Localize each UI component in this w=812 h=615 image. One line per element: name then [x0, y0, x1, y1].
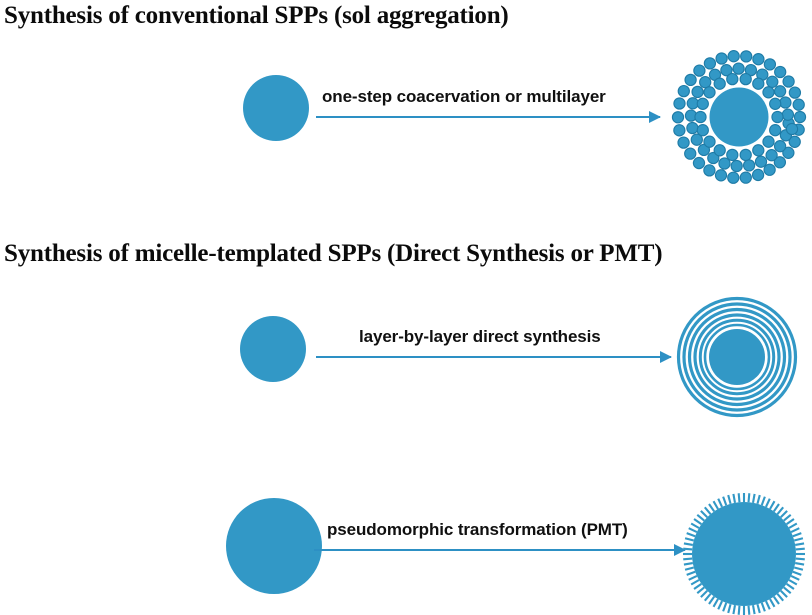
row-pmt: pseudomorphic transformation (PMT): [0, 490, 812, 611]
arrow-head-icon: [660, 351, 672, 363]
arrow-coacervation: [316, 110, 660, 124]
arrow-head-icon: [649, 111, 661, 123]
reactant-solid-core-particle-row2: [240, 316, 306, 382]
arrow-label-coacervation: one-step coacervation or multilayer: [322, 87, 606, 107]
arrow-pmt: [314, 543, 685, 557]
arrow-shaft: [314, 549, 685, 551]
arrow-label-pmt: pseudomorphic transformation (PMT): [327, 520, 628, 540]
section-heading-conventional: Synthesis of conventional SPPs (sol aggr…: [4, 2, 509, 30]
reactant-solid-core-particle-row1: [243, 75, 309, 141]
reactant-solid-core-particle-row3: [226, 498, 322, 594]
arrow-shaft: [316, 356, 671, 358]
particle-core: [692, 502, 796, 606]
synthesis-diagram: Synthesis of conventional SPPs (sol aggr…: [0, 0, 812, 611]
particle-core: [710, 88, 769, 147]
arrow-layer-by-layer: [316, 350, 671, 364]
product-radial-pore-particle: [683, 493, 805, 615]
arrow-label-layer-by-layer: layer-by-layer direct synthesis: [359, 327, 601, 347]
section-heading-micelle: Synthesis of micelle-templated SPPs (Dir…: [4, 240, 662, 268]
row-coacervation: one-step coacervation or multilayer: [0, 45, 812, 190]
particle-core: [709, 329, 765, 385]
arrow-shaft: [316, 116, 660, 118]
row-layer-by-layer: layer-by-layer direct synthesis: [0, 288, 812, 423]
product-concentric-multilayer-particle: [675, 295, 799, 419]
product-sol-aggregated-shell-particle: [669, 47, 809, 187]
